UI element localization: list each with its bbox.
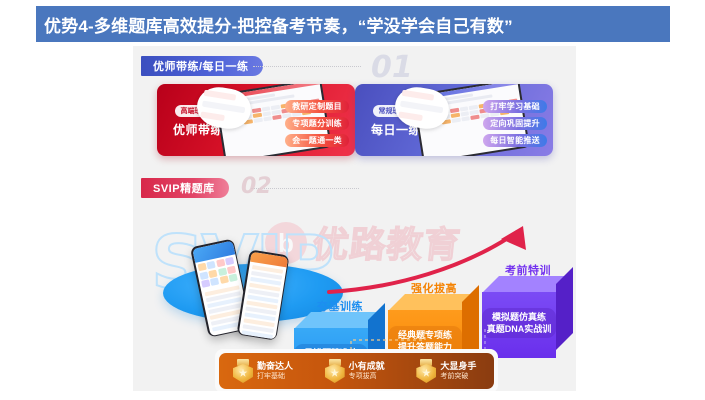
medal-item[interactable]: 小有成就 专项拔高 [311, 359, 403, 383]
medal-title: 大显身手 [440, 361, 476, 372]
title-banner: 优势4-多维题库高效提分-把控备考节奏，“学没学会自己有数” [36, 6, 670, 42]
medal-icon [416, 359, 436, 383]
feature-pill: 定向巩固提升 [483, 117, 547, 130]
card-premium-coaching[interactable]: 高端班专属 优师带练 [157, 84, 355, 156]
feature-pill: 每日智能推送 [483, 134, 547, 147]
medal-text: 大显身手 考前突破 [440, 361, 476, 382]
feature-pill: 打牢学习基础 [483, 100, 547, 113]
step-caption-line1: 模拟题仿真练 [482, 311, 556, 323]
card-daily-practice[interactable]: 常规班专属 每日一练 [355, 84, 553, 156]
feature-pill: 专项题分训练 [285, 117, 349, 130]
medal-sub: 专项拔高 [349, 372, 385, 382]
medal-icon [325, 359, 345, 383]
slide-root: 优势4-多维题库高效提分-把控备考节奏，“学没学会自己有数” b 优路教育 优师… [0, 0, 705, 400]
medal-sub: 打牢基础 [257, 372, 293, 382]
achievement-bar-wrap: 勤奋达人 打牢基础 小有成就 专项拔高 [215, 349, 498, 391]
medal-item[interactable]: 大显身手 考前突破 [402, 359, 494, 383]
content-panel: b 优路教育 优师带练/每日一练 01 高端班专属 优师带练 [133, 46, 576, 391]
medal-text: 小有成就 专项拔高 [349, 361, 385, 382]
section-number-2: 02 [241, 174, 272, 199]
medal-text: 勤奋达人 打牢基础 [257, 361, 293, 382]
medal-item[interactable]: 勤奋达人 打牢基础 [219, 359, 311, 383]
medal-title: 小有成就 [349, 361, 385, 372]
section-divider-1 [253, 66, 361, 68]
feature-pill: 会一题通一类 [285, 134, 349, 147]
medal-sub: 考前突破 [440, 372, 476, 382]
section-tag-svip: SVIP精题库 [141, 178, 229, 198]
achievement-bar: 勤奋达人 打牢基础 小有成就 专项拔高 [219, 353, 494, 389]
page-title: 优势4-多维题库高效提分-把控备考节奏，“学没学会自己有数” [36, 12, 513, 37]
section-number-1: 01 [371, 50, 413, 85]
feature-pill: 教研定制题目 [285, 100, 349, 113]
medal-title: 勤奋达人 [257, 361, 293, 372]
section-tag-daily: 优师带练/每日一练 [141, 56, 263, 76]
medal-icon [233, 359, 253, 383]
